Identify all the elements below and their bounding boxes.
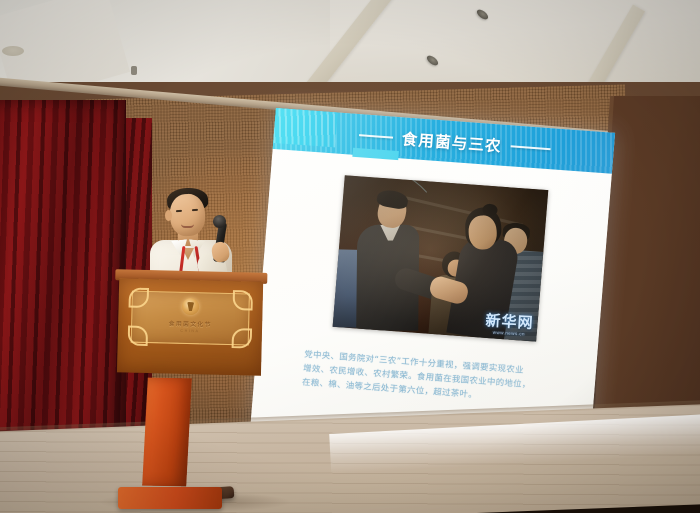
speaker-head	[169, 193, 206, 237]
stage-curtain	[0, 100, 126, 455]
sprinkler-icon	[131, 66, 137, 75]
recessed-light-icon	[2, 46, 24, 56]
speaker-mouth	[181, 224, 194, 228]
podium-front-panel: 食用菌文化节 CHINA	[117, 278, 263, 375]
downlight-icon	[425, 54, 440, 68]
slide-body-text: 党中央、国务院对“三农”工作十分重视，强调要实现农业 增效、农民增收、农村繁荣。…	[302, 347, 581, 409]
slide-surface: 食用菌与三农	[250, 108, 615, 450]
podium-plaque: 食用菌文化节 CHINA	[131, 291, 250, 346]
plaque-scroll-icon	[129, 288, 149, 308]
xinhua-watermark: 新华网 www.news.cn	[485, 313, 534, 337]
projection-screen: 食用菌与三农	[250, 108, 615, 450]
plaque-scroll-icon	[233, 290, 253, 310]
title-dash-right-icon	[511, 145, 551, 150]
xinhua-watermark-text: 新华网	[485, 313, 534, 331]
speaker-ear	[165, 210, 172, 221]
slide-title: 食用菌与三农	[401, 127, 503, 156]
slide-photograph: 新华网 www.news.cn	[333, 175, 549, 341]
title-dash-left-icon	[359, 134, 393, 138]
podium: 食用菌文化节 CHINA	[117, 276, 262, 384]
podium-stem	[142, 378, 192, 487]
downlight-icon	[475, 8, 490, 22]
podium-base	[118, 487, 222, 509]
podium-emblem-icon	[182, 298, 199, 315]
presentation-scene-photo: 食用菌与三农	[0, 0, 700, 513]
